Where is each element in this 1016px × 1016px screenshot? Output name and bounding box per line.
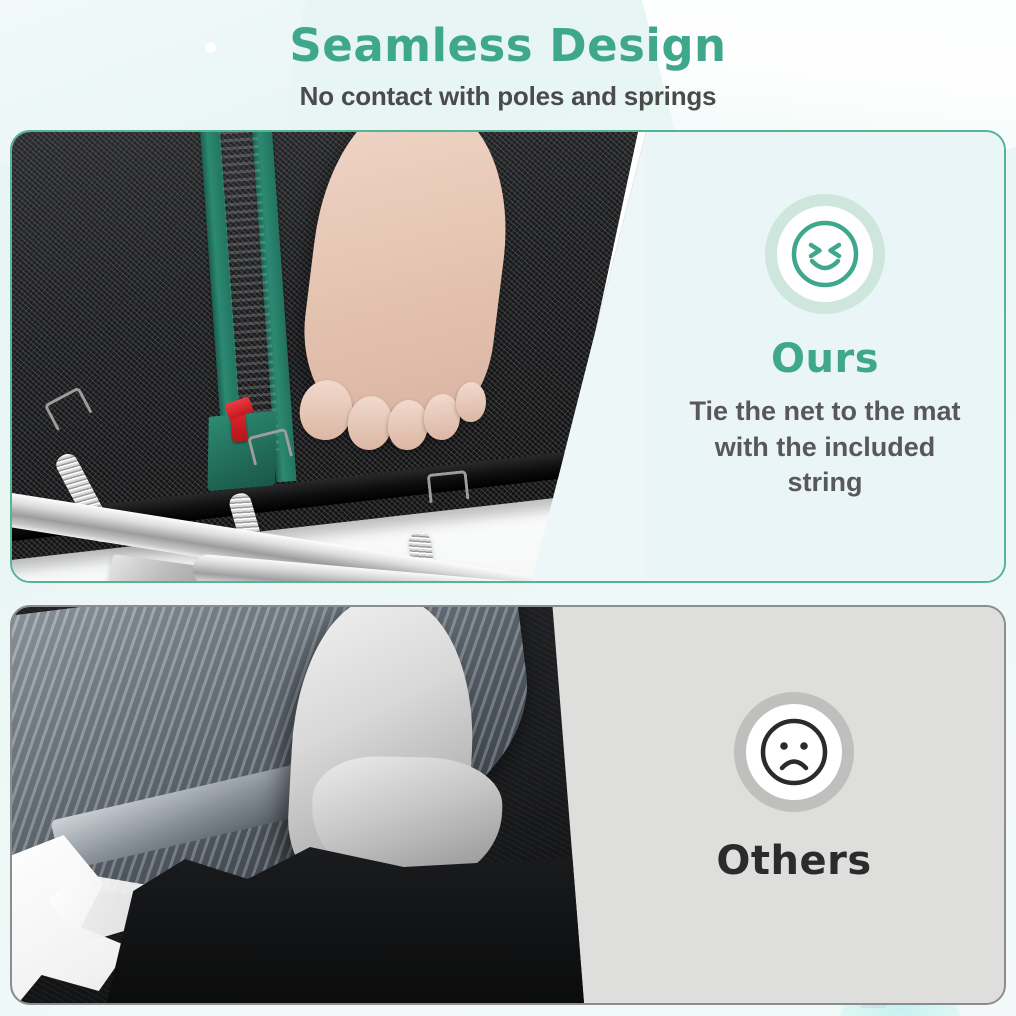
header: Seamless Design No contact with poles an… xyxy=(0,0,1016,128)
panel-label-others: Others xyxy=(716,812,871,884)
product-photo-others xyxy=(12,607,584,1003)
panel-description-ours: Tie the net to the mat with the included… xyxy=(675,382,975,501)
info-panel-others: Others xyxy=(584,607,1004,1003)
info-panel-ours: Ours Tie the net to the mat with the inc… xyxy=(646,132,1004,581)
page-background: Seamless Design No contact with poles an… xyxy=(0,0,1016,1016)
product-photo-ours xyxy=(12,132,646,581)
happy-face-icon xyxy=(765,194,885,314)
comparison-card-ours: Ours Tie the net to the mat with the inc… xyxy=(10,130,1006,583)
spring-hook xyxy=(427,470,470,503)
icon-inner-disc xyxy=(777,206,873,302)
comparison-card-others: Others xyxy=(10,605,1006,1005)
sad-face-icon xyxy=(734,692,854,812)
happy-face-glyph xyxy=(786,215,864,293)
icon-inner-disc xyxy=(746,704,842,800)
panel-label-ours: Ours xyxy=(771,314,879,382)
sad-face-glyph xyxy=(755,713,833,791)
page-subtitle: No contact with poles and springs xyxy=(0,71,1016,112)
page-title: Seamless Design xyxy=(0,0,1016,71)
